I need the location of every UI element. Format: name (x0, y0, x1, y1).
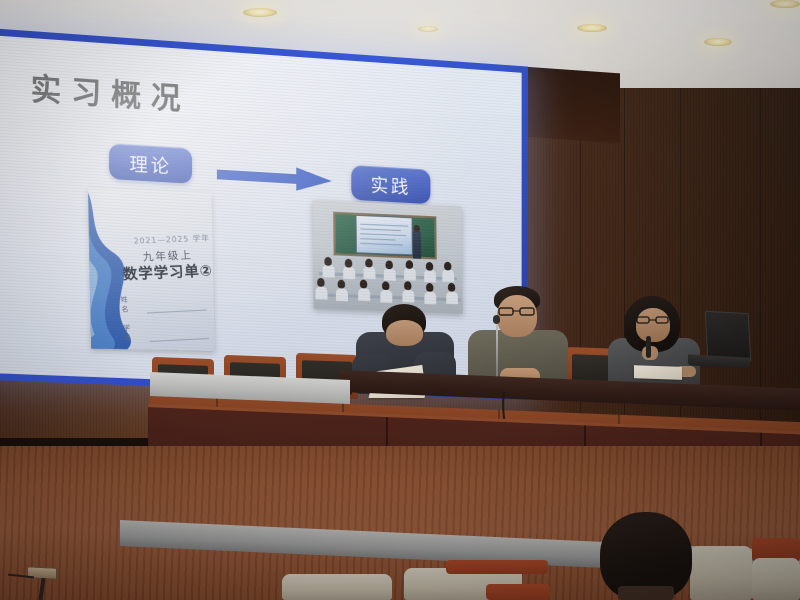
worksheet-cover-image: 2021—2025 学年 九年级上 数学学习单② 姓 名 学 号 (88, 188, 215, 351)
classroom-smartboard (355, 215, 412, 256)
audience-seat-5 (752, 538, 800, 600)
worksheet-field-label: 姓 名 (120, 294, 147, 315)
student-body (343, 266, 355, 279)
wall-panel-seam-3 (760, 88, 761, 438)
student-head (404, 281, 411, 290)
student-head (382, 281, 389, 290)
student-head (360, 279, 367, 288)
student-body (363, 266, 375, 279)
seat-backrest (282, 574, 392, 600)
student-body (424, 269, 436, 282)
downlight-1 (243, 8, 277, 17)
worksheet-field-row: 班 级 (125, 348, 211, 351)
flow-chip-theory: 理论 (109, 143, 192, 183)
audience-seat-1 (282, 574, 392, 600)
laptop-screen (705, 311, 751, 362)
student-body (404, 268, 416, 281)
handheld-microphone (646, 336, 651, 358)
classroom-teacher (413, 230, 422, 259)
student-head (448, 283, 455, 292)
foreground-attendee-neck (618, 586, 674, 600)
panelist-right-head (636, 308, 670, 342)
student-body (336, 288, 348, 301)
seat-frame-rail (486, 584, 550, 600)
smartboard-line (360, 238, 395, 240)
right-arrow-icon (217, 162, 332, 194)
downlight-3 (704, 38, 732, 46)
student-head (338, 280, 346, 289)
flow-chip-theory-label: 理论 (129, 149, 171, 178)
student-head (444, 262, 451, 271)
worksheet-field-line (149, 331, 209, 342)
audience-seat-6 (486, 584, 550, 600)
panelist-right-papers (634, 365, 682, 380)
student-head (345, 259, 353, 268)
flow-chip-practice-label: 实践 (371, 170, 411, 198)
classroom-image (313, 200, 463, 314)
smartboard-line (360, 233, 406, 236)
flow-chip-practice: 实践 (351, 165, 430, 204)
seat-frame-rail (446, 560, 548, 574)
audience-seat-3 (446, 556, 548, 576)
downlight-4 (770, 0, 800, 8)
audience-seat-4 (690, 546, 752, 600)
classroom-teacher-head (414, 225, 420, 232)
downlight-5 (418, 26, 438, 32)
student-head (365, 258, 372, 267)
smartboard-line (360, 228, 401, 231)
smartboard-line (360, 243, 402, 246)
seat-backrest (752, 558, 800, 600)
student-body (315, 286, 327, 299)
slide-title: 实习概况 (31, 64, 191, 119)
worksheet-year: 2021—2025 学年 (133, 233, 210, 247)
downlight-2 (577, 24, 607, 32)
student-head (426, 283, 433, 292)
microphone-head (493, 315, 500, 324)
student-head (426, 262, 433, 271)
worksheet-field-row: 姓 名 (120, 291, 206, 315)
presentation-hall-photo: 实习概况 理论 实践 2021—2025 学 (0, 0, 800, 600)
student-head (385, 260, 392, 269)
microphone-stand (496, 322, 498, 384)
panelist-left-head (386, 320, 423, 346)
worksheet-fields: 姓 名 学 号 班 级 (120, 291, 212, 351)
worksheet-title: 数学学习单② (122, 260, 214, 285)
glasses-icon (636, 316, 670, 325)
panelist-center-head (497, 295, 537, 337)
worksheet-field-label: 学 号 (123, 322, 150, 343)
worksheet-field-row: 学 号 (123, 319, 209, 343)
student-body (442, 269, 454, 282)
worksheet-field-line (147, 303, 207, 314)
smartboard-line (360, 224, 408, 227)
student-body (384, 268, 396, 281)
student-head (317, 278, 325, 287)
glasses-icon (497, 306, 537, 316)
student-head (406, 260, 413, 269)
student-body (323, 265, 335, 278)
student-head (324, 257, 332, 266)
seat-backrest (690, 546, 752, 600)
